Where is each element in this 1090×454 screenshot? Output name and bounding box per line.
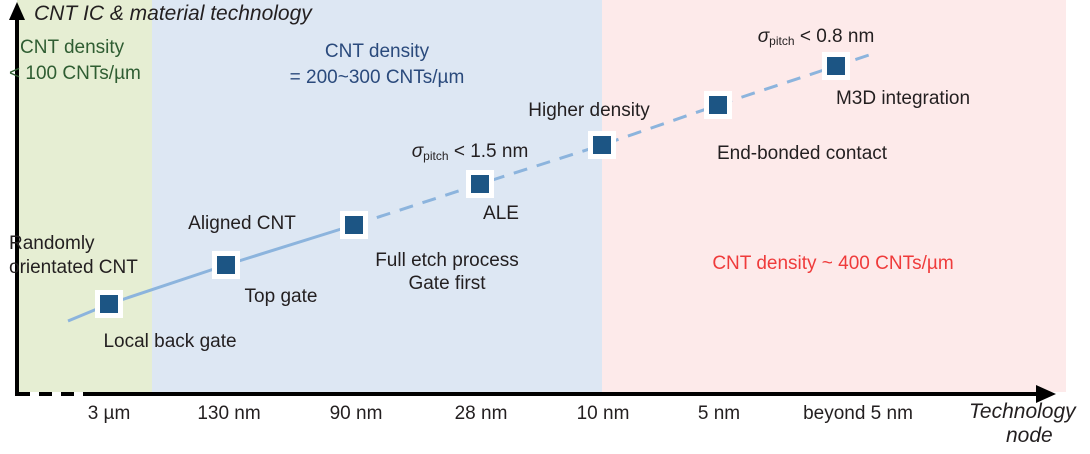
label-randomly-orientated-line2: orientated CNT [9,256,138,279]
x-tick-label-4: 10 nm [577,402,630,425]
sigma-pitch-1-5-annotation: σpitch < 1.5 nm [412,140,529,168]
sigma-subscript: pitch [769,34,794,48]
sigma-symbol: σ [412,141,423,162]
plot-graphics [0,0,1090,454]
label-local-back-gate: Local back gate [103,330,236,353]
sigma-pitch-0-8-annotation: σpitch < 0.8 nm [758,25,875,53]
x-tick-label-2: 90 nm [330,402,383,425]
x-tick-label-1: 130 nm [197,402,260,425]
green-region-density-line2: < 100 CNTs/µm [9,62,141,85]
pink-region-density: CNT density ~ 400 CNTs/µm [712,252,953,275]
label-ale: ALE [483,202,519,225]
x-tick-label-5: 5 nm [698,402,740,425]
cnt-technology-roadmap: CNT IC & material technology CNT density… [0,0,1090,454]
x-tick-label-3: 28 nm [455,402,508,425]
label-gate-first: Gate first [408,272,485,295]
sigma-subscript: pitch [423,149,448,163]
label-full-etch-process: Full etch process [375,249,519,272]
sigma-symbol: σ [758,26,769,47]
data-point-marker [588,131,616,159]
label-higher-density: Higher density [528,99,649,122]
label-top-gate: Top gate [245,285,318,308]
data-point-marker [704,91,732,119]
data-point-marker [212,251,240,279]
label-aligned-cnt: Aligned CNT [188,212,296,235]
blue-region-density-line2: = 200~300 CNTs/µm [290,66,465,89]
chart-title: CNT IC & material technology [34,2,312,25]
data-point-marker [466,170,494,198]
label-end-bonded-contact: End-bonded contact [717,142,887,165]
x-tick-label-0: 3 µm [88,402,131,425]
y-axis-arrowhead [9,2,25,20]
x-tick-label-6: beyond 5 nm [803,402,913,425]
data-point-marker [822,52,850,80]
data-point-marker [340,211,368,239]
blue-region-density-line1: CNT density [325,40,429,63]
label-randomly-orientated-line1: Randomly [9,232,95,255]
x-axis-title-line2: node [1006,424,1053,447]
green-region-density-line1: CNT density [20,36,124,59]
label-m3d-integration: M3D integration [836,87,970,110]
sigma-pitch-1-5-value: < 1.5 nm [454,141,528,162]
x-axis-title-line1: Technology [969,400,1076,423]
data-point-marker [95,290,123,318]
sigma-pitch-0-8-value: < 0.8 nm [800,26,874,47]
